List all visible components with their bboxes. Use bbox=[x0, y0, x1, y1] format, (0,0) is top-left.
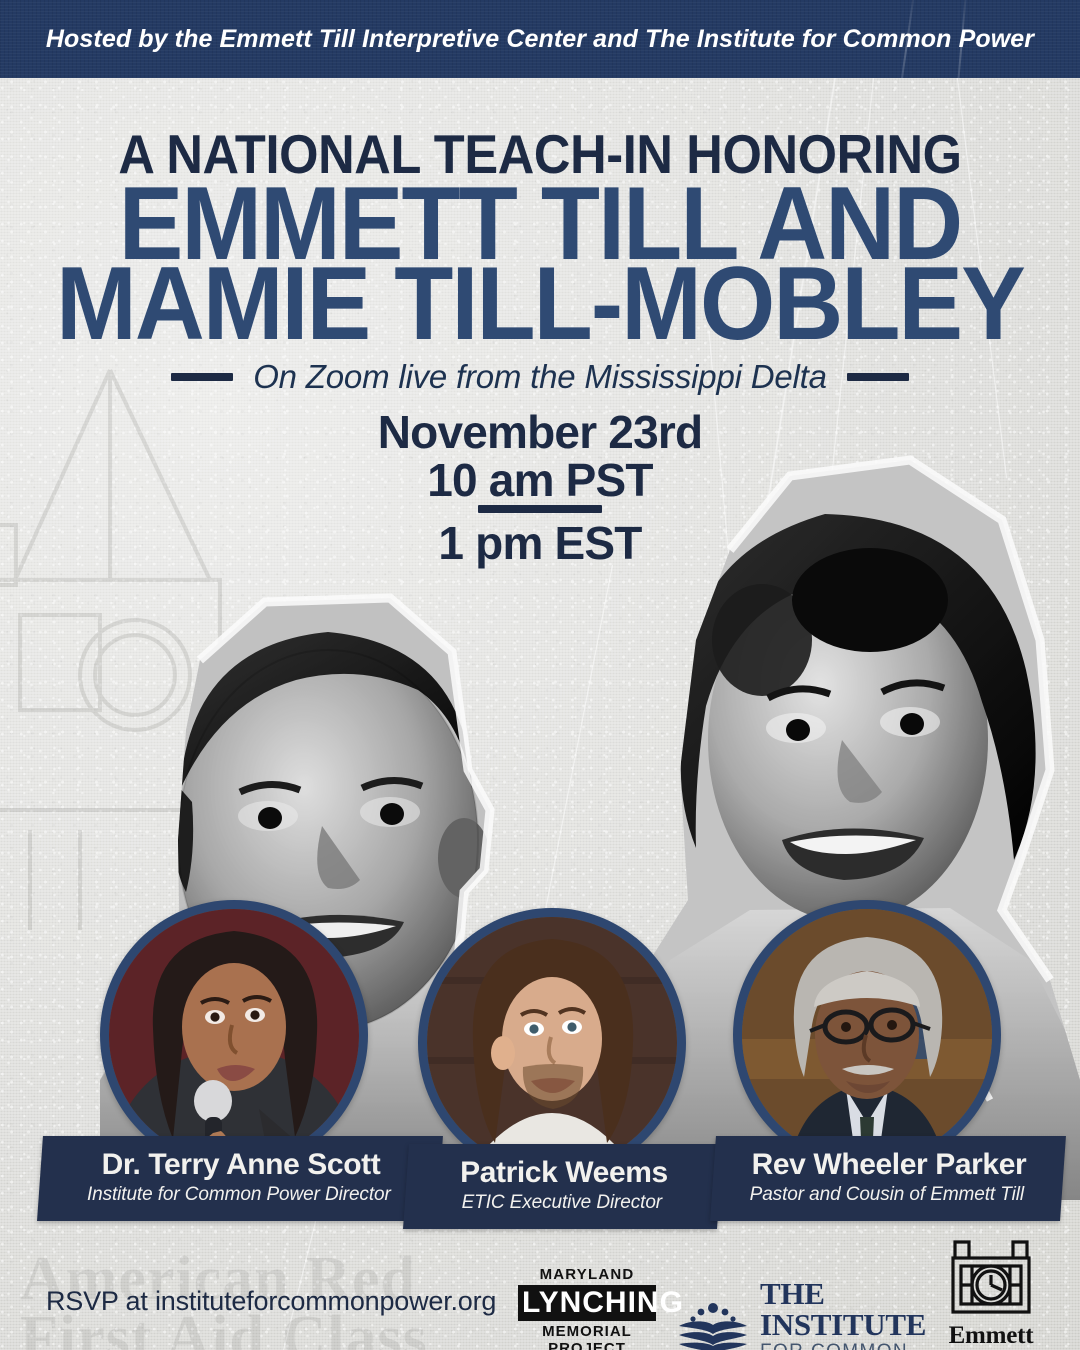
title-line-3: MAMIE TILL-MOBLEY bbox=[38, 258, 1042, 352]
speaker-name: Rev Wheeler Parker bbox=[730, 1149, 1048, 1181]
avatar bbox=[418, 908, 686, 1178]
speaker-nameplate-2: Patrick Weems ETIC Executive Director bbox=[403, 1144, 723, 1229]
speaker-role: Institute for Common Power Director bbox=[55, 1184, 423, 1206]
open-book-icon bbox=[676, 1301, 750, 1350]
hosted-by-text: Hosted by the Emmett Till Interpretive C… bbox=[0, 0, 1080, 78]
subtitle-text: On Zoom live from the Mississippi Delta bbox=[253, 358, 827, 396]
mlmp-line-1: MARYLAND bbox=[518, 1266, 656, 1283]
event-poster: American Red First Aid Class bbox=[0, 0, 1080, 1350]
avatar bbox=[733, 900, 1001, 1170]
speakers-row: Dr. Terry Anne Scott Institute for Commo… bbox=[0, 900, 1080, 1230]
footer: RSVP at instituteforcommonpower.org MARY… bbox=[0, 1262, 1080, 1350]
speaker-role: ETIC Executive Director bbox=[421, 1192, 703, 1214]
event-date: November 23rd bbox=[0, 408, 1080, 456]
event-time-eastern: 1 pm EST bbox=[0, 516, 1080, 570]
etic-line-1: Emmett Till bbox=[938, 1322, 1044, 1350]
logo-institute-for-common-power: THE INSTITUTE FOR COMMON POWER bbox=[676, 1278, 928, 1350]
logo-maryland-lynching-memorial-project: MARYLAND LYNCHING MEMORIAL PROJECT bbox=[518, 1266, 656, 1350]
speaker-name: Dr. Terry Anne Scott bbox=[57, 1149, 425, 1181]
speaker-card-1: Dr. Terry Anne Scott Institute for Commo… bbox=[100, 900, 350, 1170]
time-divider bbox=[478, 505, 602, 513]
speaker-nameplate-1: Dr. Terry Anne Scott Institute for Commo… bbox=[37, 1136, 443, 1221]
logo-emmett-till-interpretive-center: Emmett Till INTERPRETIVE CENTER bbox=[938, 1238, 1044, 1350]
speaker-card-2: Patrick Weems ETIC Executive Director bbox=[418, 908, 668, 1178]
header-bar: Hosted by the Emmett Till Interpretive C… bbox=[0, 0, 1080, 78]
avatar bbox=[100, 900, 368, 1170]
speaker-nameplate-3: Rev Wheeler Parker Pastor and Cousin of … bbox=[710, 1136, 1066, 1221]
speaker-role: Pastor and Cousin of Emmett Till bbox=[728, 1184, 1046, 1206]
dash-right-icon bbox=[847, 373, 909, 381]
icp-line-2: FOR COMMON POWER bbox=[760, 1342, 928, 1350]
speaker-name: Patrick Weems bbox=[423, 1157, 705, 1189]
icp-wordmark: THE INSTITUTE FOR COMMON POWER bbox=[760, 1278, 928, 1350]
event-date-time: November 23rd 10 am PST bbox=[0, 408, 1080, 505]
icp-line-1: THE INSTITUTE bbox=[760, 1278, 928, 1340]
event-time-pacific: 10 am PST bbox=[0, 456, 1080, 504]
dash-left-icon bbox=[171, 373, 233, 381]
speaker-card-3: Rev Wheeler Parker Pastor and Cousin of … bbox=[733, 900, 983, 1170]
subtitle-row: On Zoom live from the Mississippi Delta bbox=[0, 358, 1080, 396]
rsvp-text[interactable]: RSVP at instituteforcommonpower.org bbox=[46, 1286, 496, 1317]
courthouse-clock-tower-icon bbox=[945, 1303, 1037, 1320]
mlmp-line-2: LYNCHING bbox=[518, 1285, 656, 1321]
mlmp-line-3: MEMORIAL PROJECT bbox=[518, 1323, 656, 1350]
